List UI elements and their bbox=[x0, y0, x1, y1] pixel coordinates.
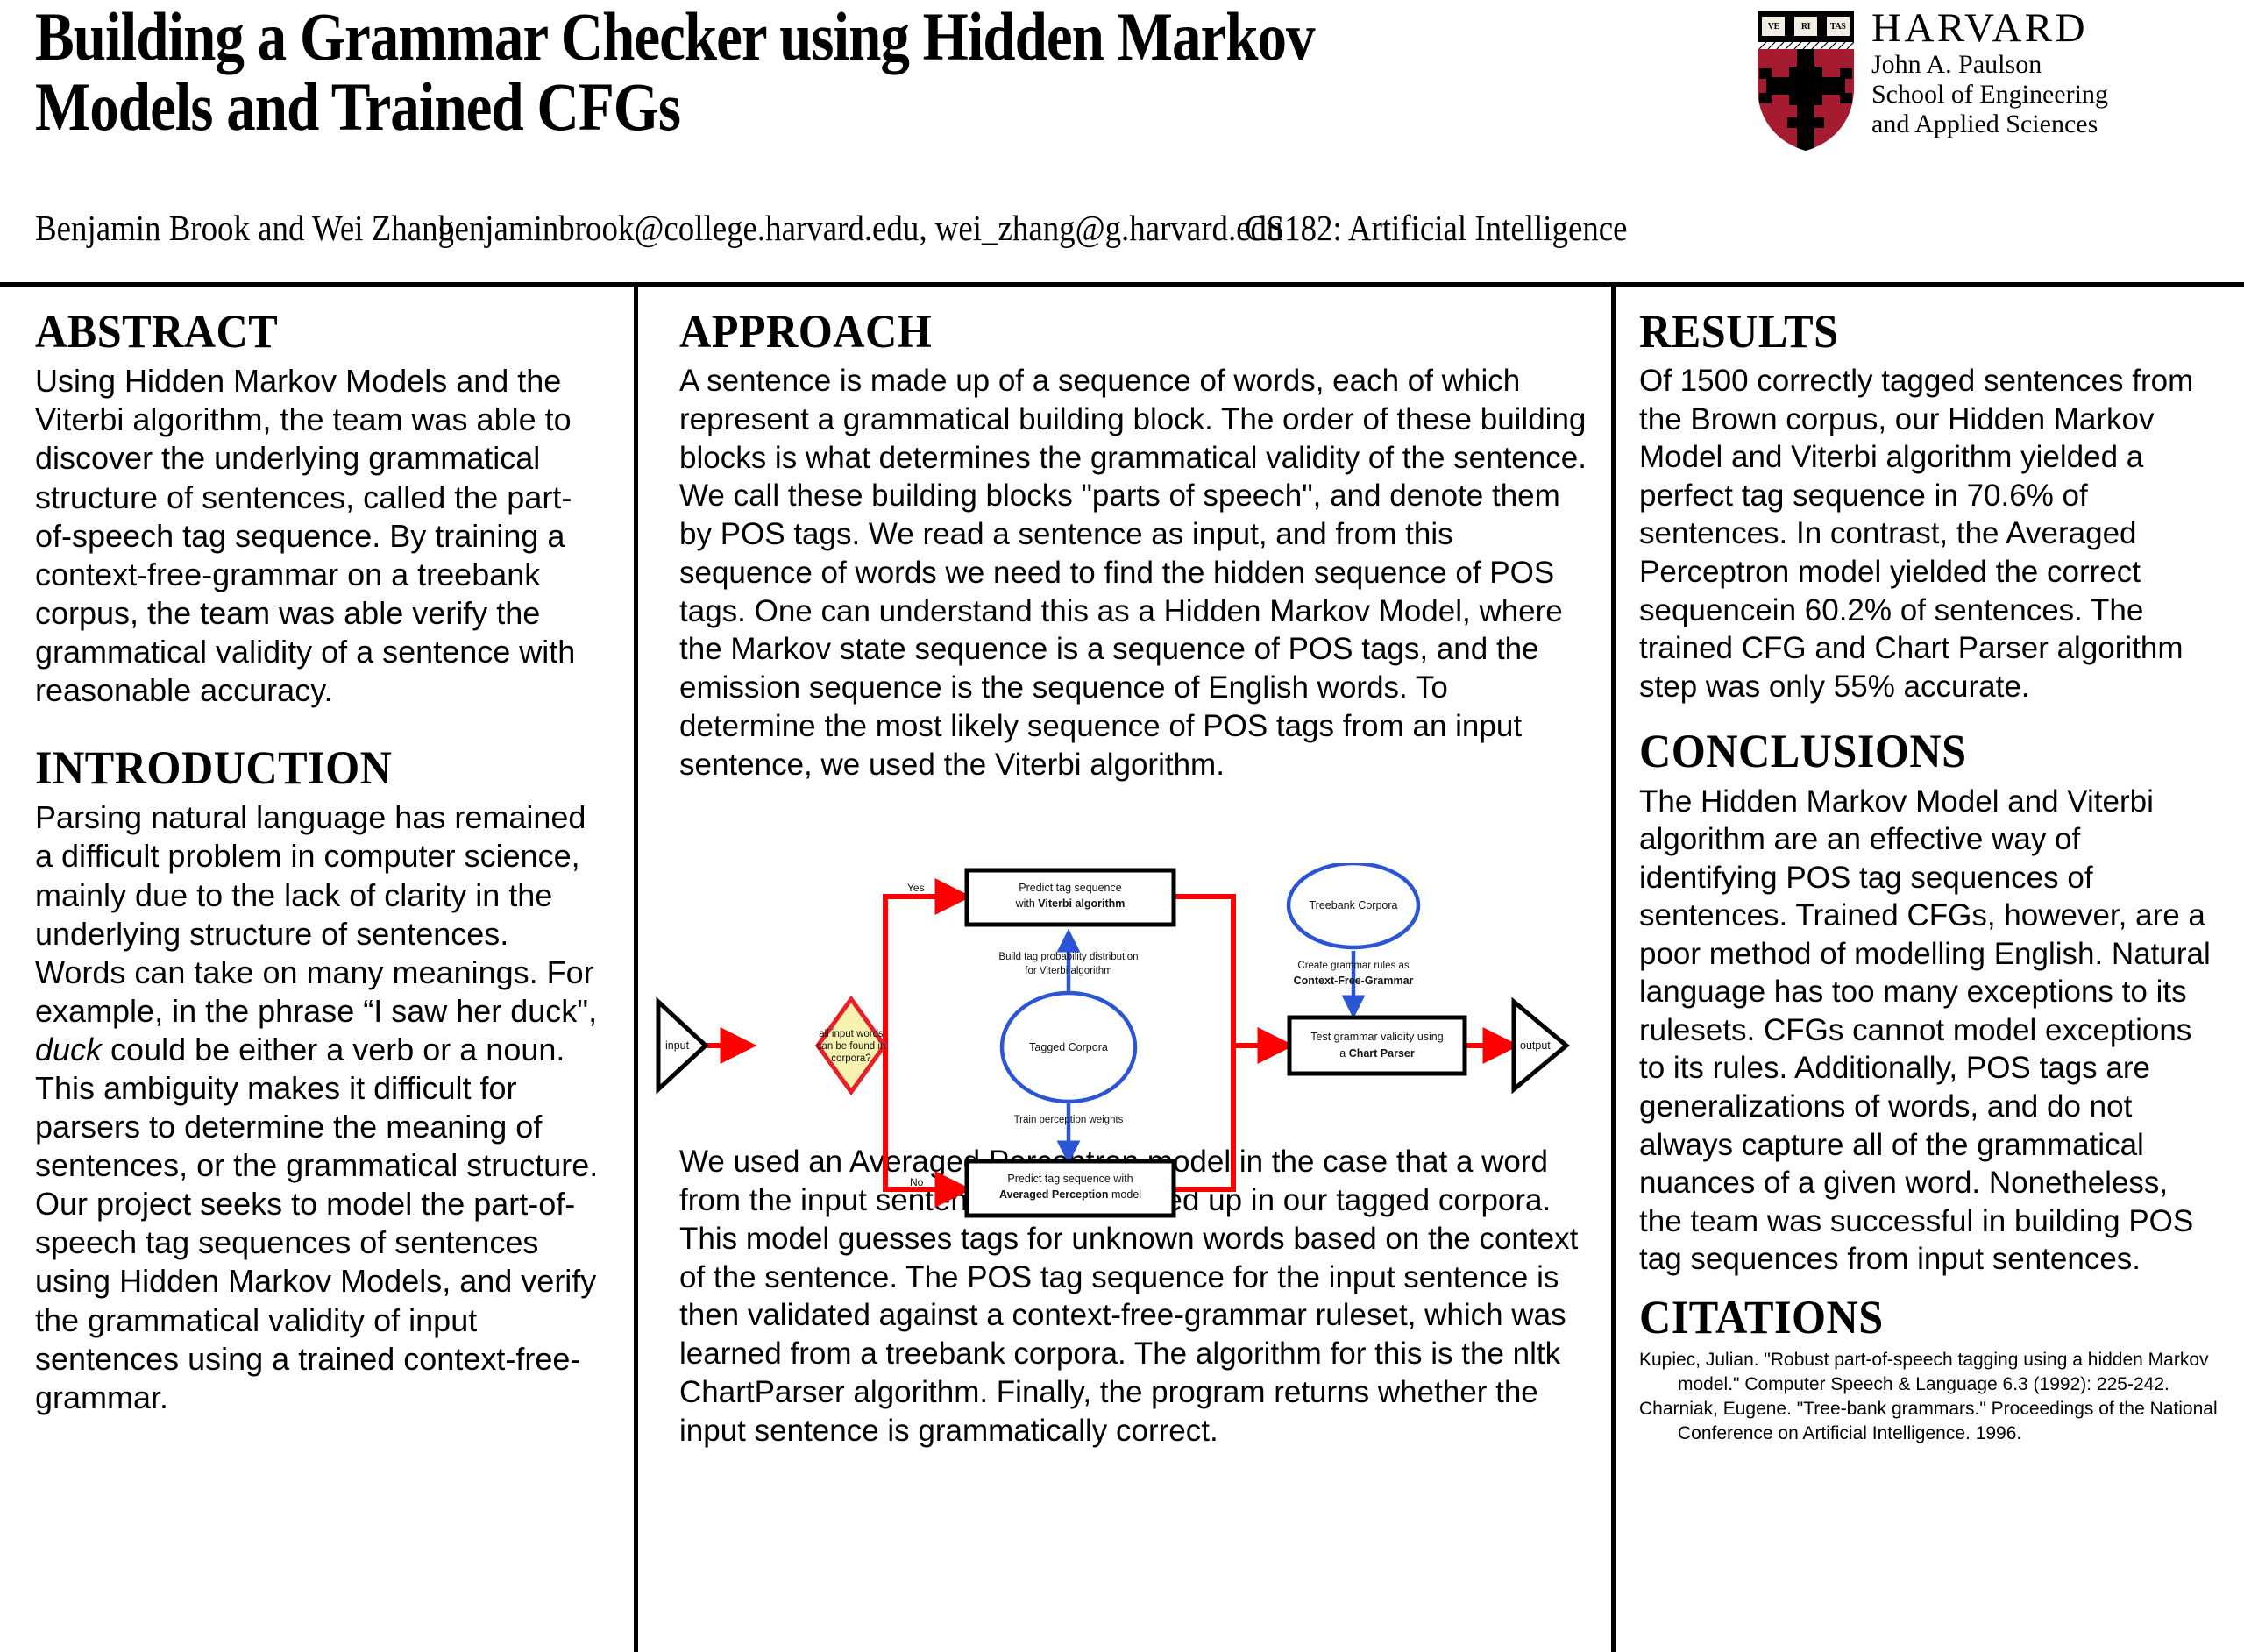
poster-header: Building a Grammar Checker using Hidden … bbox=[0, 0, 2244, 285]
edge-label-build-line-2: for Viterbi algorithm bbox=[1025, 966, 1112, 976]
abstract-body: Using Hidden Markov Models and the Viter… bbox=[35, 362, 605, 710]
decision-label-line-1: all input words bbox=[819, 1029, 884, 1039]
harvard-seas-logo: VE RI TAS bbox=[1740, 7, 2231, 174]
introduction-body: Parsing natural language has remained a … bbox=[35, 798, 605, 1417]
veritas-book-3: TAS bbox=[1826, 16, 1850, 37]
conclusions-body: The Hidden Markov Model and Viterbi algo… bbox=[1639, 783, 2218, 1279]
edge-no-to-perceptron bbox=[885, 1046, 964, 1189]
column-divider-left bbox=[634, 287, 638, 1652]
edge-label-train: Train perception weights bbox=[1014, 1115, 1124, 1125]
svg-text:Averaged Perception model: Averaged Perception model bbox=[999, 1188, 1141, 1201]
edge-label-build-line-1: Build tag probability distribution bbox=[998, 952, 1138, 962]
viterbi-label-line-2-plain: with bbox=[1015, 897, 1039, 910]
decision-label-line-3: corpora? bbox=[831, 1053, 870, 1064]
page-title: Building a Grammar Checker using Hidden … bbox=[35, 2, 1452, 141]
harvard-wordmark: HARVARD bbox=[1871, 7, 2231, 50]
author-emails: benjaminbrook@college.harvard.edu, wei_z… bbox=[438, 210, 1164, 246]
viterbi-label-line-1: Predict tag sequence bbox=[1019, 882, 1121, 894]
tagged-corpora-label: Tagged Corpora bbox=[1029, 1041, 1108, 1053]
edge-label-grammar-line-1: Create grammar rules as bbox=[1297, 961, 1409, 971]
logo-line-1: John A. Paulson bbox=[1871, 50, 2231, 80]
node-output: output bbox=[1514, 1002, 1566, 1089]
chart-parser-label-line-2-bold: Chart Parser bbox=[1349, 1047, 1415, 1060]
course-label: CS182: Artificial Intelligence bbox=[1245, 210, 1655, 246]
edge-label-grammar-line-2: Context-Free-Grammar bbox=[1294, 975, 1414, 987]
edge-viterbi-to-junction bbox=[1174, 897, 1233, 1046]
perceptron-label-line-2-plain: model bbox=[1109, 1188, 1142, 1201]
node-decision: all input words can be found in corpora? bbox=[817, 999, 886, 1092]
svg-text:with Viterbi algorithm: with Viterbi algorithm bbox=[1015, 897, 1126, 910]
treebank-corpora-label: Treebank Corpora bbox=[1310, 899, 1398, 911]
intro-emphasis-word: duck bbox=[35, 1032, 102, 1067]
perceptron-label-line-2-bold: Averaged Perception bbox=[999, 1188, 1109, 1201]
results-heading: RESULTS bbox=[1639, 307, 2177, 357]
logo-line-3: and Applied Sciences bbox=[1871, 110, 2231, 139]
shield-veritas-banner: VE RI TAS bbox=[1758, 11, 1854, 42]
node-viterbi: Predict tag sequence with Viterbi algori… bbox=[967, 870, 1174, 925]
node-input: input bbox=[658, 1002, 706, 1089]
node-output-label: output bbox=[1520, 1039, 1551, 1052]
node-input-label: input bbox=[665, 1039, 690, 1052]
node-perceptron: Predict tag sequence with Averaged Perce… bbox=[967, 1161, 1174, 1216]
veritas-book-1: VE bbox=[1761, 16, 1786, 37]
approach-heading: APPROACH bbox=[679, 307, 1527, 357]
node-chart-parser: Test grammar validity using a Chart Pars… bbox=[1289, 1017, 1465, 1074]
edge-yes-to-viterbi bbox=[885, 897, 964, 1046]
perceptron-label-line-1: Predict tag sequence with bbox=[1007, 1173, 1133, 1185]
shield-crimson-body bbox=[1758, 42, 1854, 151]
harvard-shield-icon: VE RI TAS bbox=[1758, 11, 1854, 151]
intro-text-part-2: could be either a verb or a noun. This a… bbox=[35, 1032, 598, 1415]
column-left: ABSTRACT Using Hidden Markov Models and … bbox=[35, 307, 605, 1426]
node-tagged-corpora: Tagged Corpora bbox=[1002, 993, 1135, 1102]
flowchart-svg: input all input words can be found in co… bbox=[644, 863, 1617, 1240]
node-treebank-corpora: Treebank Corpora bbox=[1289, 863, 1418, 947]
edge-label-no: No bbox=[910, 1176, 924, 1188]
decision-label-line-2: can be found in bbox=[817, 1041, 886, 1052]
conclusions-heading: CONCLUSIONS bbox=[1639, 727, 2177, 776]
author-names: Benjamin Brook and Wei Zhang bbox=[35, 210, 398, 246]
citation-entry-2: Charniak, Eugene. "Tree-bank grammars." … bbox=[1639, 1397, 2218, 1446]
approach-flowchart-figure: input all input words can be found in co… bbox=[644, 863, 1617, 1240]
veritas-book-2: RI bbox=[1793, 16, 1818, 37]
approach-paragraph-1: A sentence is made up of a sequence of w… bbox=[679, 362, 1591, 783]
citations-heading: CITATIONS bbox=[1639, 1293, 2177, 1343]
abstract-heading: ABSTRACT bbox=[35, 307, 565, 357]
introduction-heading: INTRODUCTION bbox=[35, 743, 565, 793]
chart-parser-label-line-2-plain: a bbox=[1339, 1047, 1348, 1060]
author-line: Benjamin Brook and Wei Zhang benjaminbro… bbox=[35, 210, 2209, 263]
intro-text-part-1: Parsing natural language has remained a … bbox=[35, 799, 597, 1028]
citation-entry-1: Kupiec, Julian. "Robust part-of-speech t… bbox=[1639, 1348, 2218, 1397]
edge-perceptron-to-junction bbox=[1174, 1046, 1233, 1189]
harvard-logo-text: HARVARD John A. Paulson School of Engine… bbox=[1871, 7, 2231, 139]
results-body: Of 1500 correctly tagged sentences from … bbox=[1639, 362, 2218, 705]
header-divider bbox=[0, 282, 2244, 287]
edge-label-yes: Yes bbox=[907, 882, 925, 894]
svg-text:a Chart Parser: a Chart Parser bbox=[1339, 1047, 1415, 1060]
column-right: RESULTS Of 1500 correctly tagged sentenc… bbox=[1639, 307, 2218, 1446]
viterbi-label-line-2-bold: Viterbi algorithm bbox=[1038, 897, 1125, 910]
chart-parser-label-line-1: Test grammar validity using bbox=[1310, 1031, 1443, 1043]
logo-line-2: School of Engineering bbox=[1871, 80, 2231, 110]
